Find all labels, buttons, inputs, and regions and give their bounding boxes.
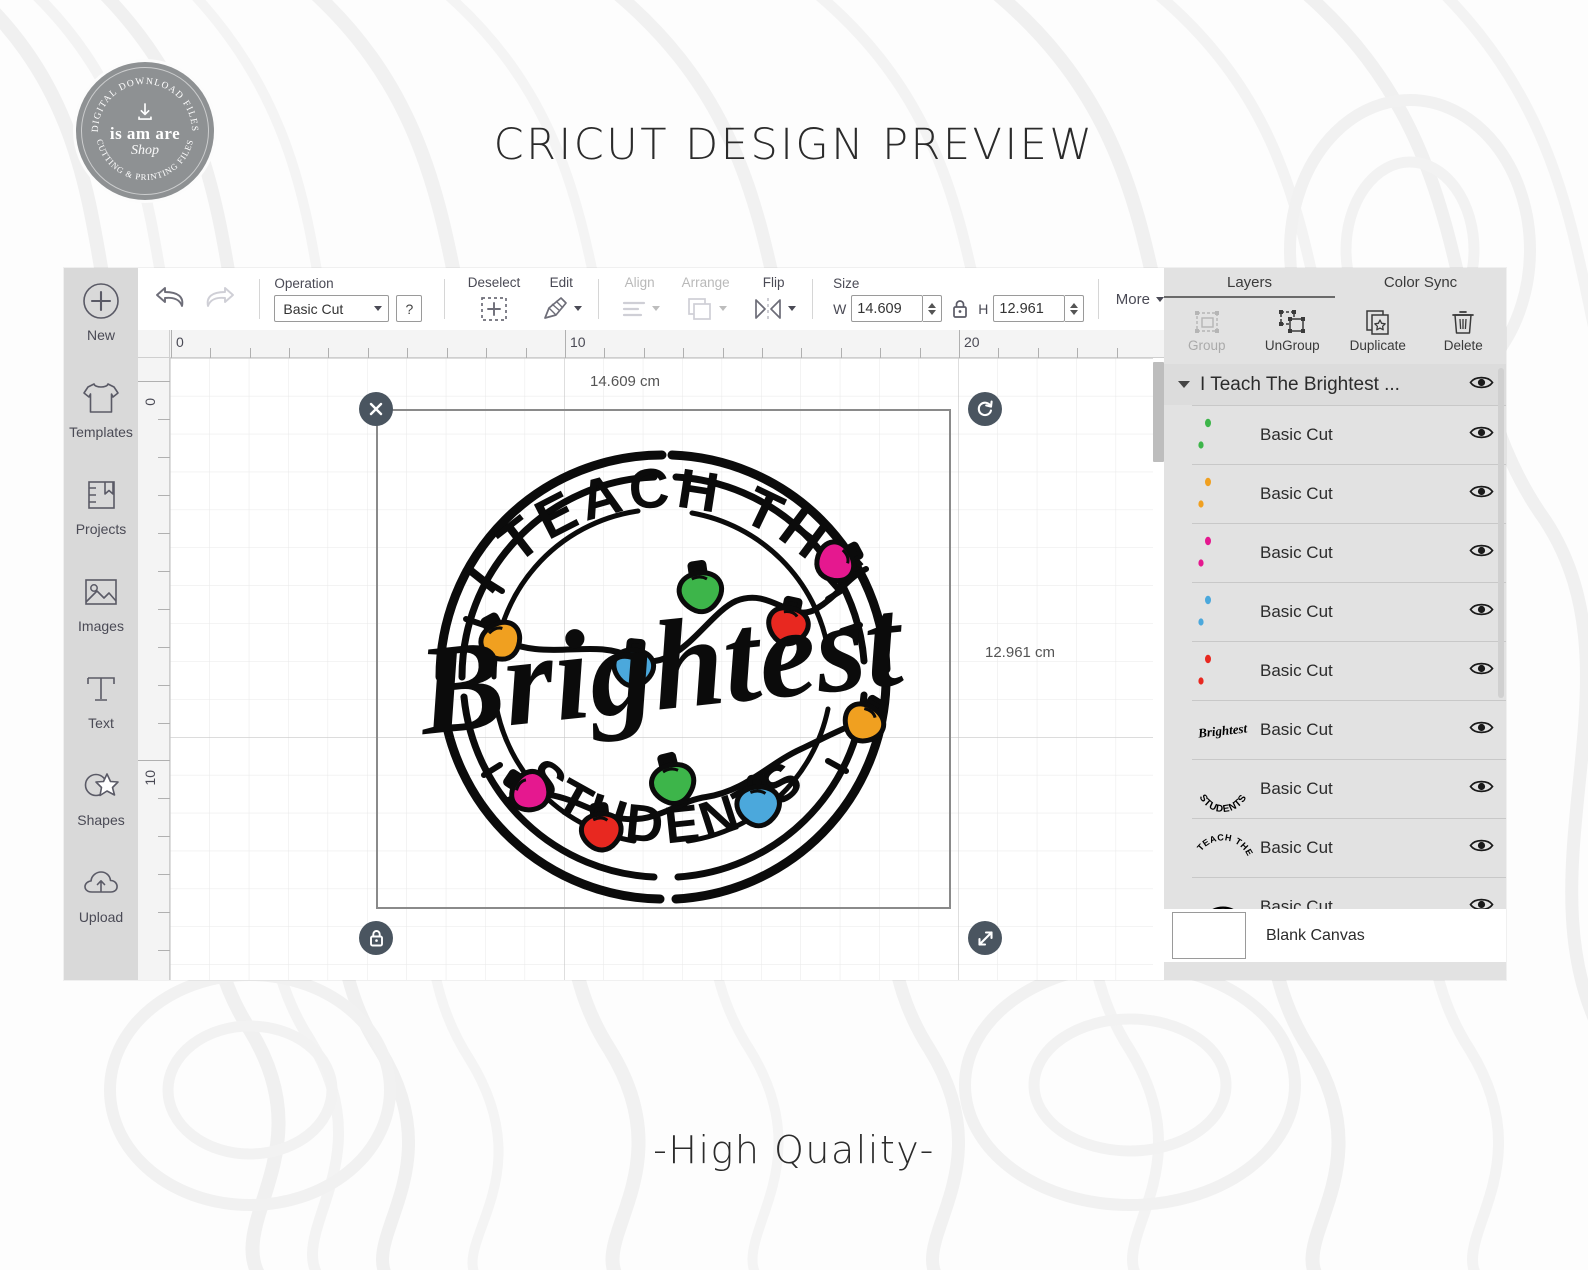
height-stepper[interactable] <box>1065 295 1084 322</box>
horizontal-ruler: 0 10 20 <box>138 330 1164 358</box>
layer-name: Basic Cut <box>1254 543 1469 563</box>
layer-thumbnail-arc-i-teach-the: I TEACH THE <box>1192 825 1254 871</box>
ruler-h-label-0: 0 <box>176 334 184 350</box>
layer-name: Basic Cut <box>1254 779 1469 799</box>
sidebar-item-new[interactable]: New <box>64 268 138 365</box>
close-x-icon <box>367 400 385 418</box>
layer-thumbnail-arc-students: STUDENTS <box>1192 766 1254 812</box>
layer-thumbnail-green-dots <box>1192 412 1254 458</box>
ruler-tick-minor <box>1117 348 1118 358</box>
ruler-tick-minor <box>158 723 170 724</box>
plus-circle-icon <box>81 278 121 324</box>
ruler-tick-major <box>959 330 960 358</box>
ruler-tick-minor <box>328 348 329 358</box>
chevron-down-icon[interactable] <box>574 306 582 311</box>
flip-label: Flip <box>763 275 785 290</box>
ruler-tick-minor <box>158 571 170 572</box>
redo-icon[interactable] <box>202 284 236 315</box>
ungroup-button[interactable]: UnGroup <box>1250 301 1336 360</box>
height-input[interactable] <box>993 295 1065 322</box>
cloud-upload-icon <box>81 860 121 906</box>
blank-canvas-row[interactable]: Blank Canvas <box>1164 909 1506 962</box>
left-sidebar: New Templates Projects <box>64 268 138 980</box>
sidebar-item-projects[interactable]: Projects <box>64 462 138 559</box>
top-toolbar: Operation Basic Cut ? Deselect Edit <box>138 268 1164 330</box>
eye-icon[interactable] <box>1469 424 1494 446</box>
layer-thumbnail-circle-frame <box>1192 884 1254 909</box>
more-button[interactable]: More <box>1116 291 1164 308</box>
design-grid[interactable]: 14.609 cm 12.961 cm <box>170 358 1164 980</box>
layers-list[interactable]: I Teach The Brightest ... Basic CutBasic… <box>1164 364 1506 909</box>
ruler-tick-minor <box>158 798 170 799</box>
layer-name: Basic Cut <box>1254 484 1469 504</box>
sidebar-label-images: Images <box>78 618 124 634</box>
chevron-down-icon[interactable] <box>1178 381 1190 388</box>
eye-icon[interactable] <box>1469 660 1494 682</box>
book-bookmark-icon <box>83 472 119 518</box>
group-button[interactable]: Group <box>1164 301 1250 360</box>
cricut-app-window: New Templates Projects <box>64 268 1506 980</box>
align-icon <box>620 294 648 324</box>
ruler-tick-minor <box>1077 348 1078 358</box>
operation-value: Basic Cut <box>283 301 343 317</box>
ruler-tick-major <box>171 330 172 358</box>
arrange-layers-icon <box>685 294 715 324</box>
align-label: Align <box>625 275 655 290</box>
chevron-down-icon <box>374 306 382 311</box>
trash-icon <box>1449 309 1477 335</box>
layer-row[interactable]: BrightestBasic Cut <box>1192 700 1506 759</box>
layer-name: Basic Cut <box>1254 661 1469 681</box>
stepper-down-icon <box>1070 310 1078 315</box>
ruler-tick-minor <box>158 912 170 913</box>
group-icon <box>1193 309 1221 335</box>
layer-group-name: I Teach The Brightest ... <box>1200 374 1469 396</box>
ruler-tick-major <box>565 330 566 358</box>
ruler-tick-minor <box>158 874 170 875</box>
rotate-handle[interactable] <box>968 392 1002 426</box>
align-group: Align <box>620 275 660 324</box>
eye-icon[interactable] <box>1469 896 1494 909</box>
sidebar-item-shapes[interactable]: Shapes <box>64 753 138 850</box>
stepper-down-icon <box>928 310 936 315</box>
layer-row[interactable]: Basic Cut <box>1192 877 1506 909</box>
scrollbar-thumb[interactable] <box>1153 362 1164 462</box>
layer-row[interactable]: Basic Cut <box>1192 405 1506 464</box>
svg-text:STUDENTS: STUDENTS <box>1197 793 1250 812</box>
ruler-tick-minor <box>210 348 211 358</box>
sidebar-label-new: New <box>87 327 115 343</box>
tab-layers[interactable]: Layers <box>1164 268 1335 298</box>
ruler-tick-minor <box>1038 348 1039 358</box>
eye-icon[interactable] <box>1469 719 1494 741</box>
eye-icon[interactable] <box>1469 837 1494 859</box>
text-t-icon <box>84 666 118 712</box>
ruler-tick-minor <box>683 348 684 358</box>
lock-closed-icon <box>949 297 971 321</box>
sidebar-item-upload[interactable]: Upload <box>64 850 138 947</box>
layers-panel: Layers Color Sync Group <box>1164 268 1506 980</box>
layer-name: Basic Cut <box>1254 720 1469 740</box>
duplicate-label: Duplicate <box>1350 338 1406 353</box>
sidebar-label-shapes: Shapes <box>77 812 124 828</box>
panel-tab-bar: Layers Color Sync <box>1164 268 1506 298</box>
ruler-h-label-10: 10 <box>570 334 586 350</box>
layer-row[interactable]: Basic Cut <box>1192 641 1506 700</box>
edit-label: Edit <box>550 275 573 290</box>
deselect-label: Deselect <box>468 275 521 290</box>
blank-canvas-label: Blank Canvas <box>1266 927 1365 945</box>
layer-rows-container: Basic CutBasic CutBasic CutBasic CutBasi… <box>1164 405 1506 909</box>
more-label: More <box>1116 291 1150 308</box>
ruler-corner <box>138 330 170 358</box>
flip-group: Flip <box>752 275 796 324</box>
sidebar-label-templates: Templates <box>69 424 133 440</box>
layer-group-row[interactable]: I Teach The Brightest ... <box>1164 364 1506 405</box>
tab-color-sync[interactable]: Color Sync <box>1335 268 1506 298</box>
layer-thumbnail-pink-dots <box>1192 530 1254 576</box>
ruler-tick-minor <box>841 348 842 358</box>
selection-bounding-box[interactable] <box>376 409 951 909</box>
dimension-width-label: 14.609 cm <box>590 373 660 390</box>
layer-name: Basic Cut <box>1254 838 1469 858</box>
ruler-tick-minor <box>158 457 170 458</box>
edit-group: Edit <box>540 275 582 324</box>
layer-thumbnail-orange-dots <box>1192 471 1254 517</box>
operation-select[interactable]: Basic Cut <box>274 295 389 322</box>
ruler-tick-minor <box>644 348 645 358</box>
ruler-tick-minor <box>289 348 290 358</box>
canvas-vertical-scrollbar[interactable] <box>1153 358 1164 980</box>
ungroup-label: UnGroup <box>1265 338 1320 353</box>
ruler-tick-minor <box>250 348 251 358</box>
ruler-h-label-20: 20 <box>964 334 980 350</box>
sidebar-label-text: Text <box>88 715 114 731</box>
delete-button[interactable]: Delete <box>1421 301 1507 360</box>
canvas-area: 0 10 20 <box>138 330 1164 980</box>
aspect-lock-button[interactable] <box>942 297 978 321</box>
chevron-down-icon <box>652 306 660 311</box>
layer-name: Basic Cut <box>1254 425 1469 445</box>
rotate-icon <box>975 399 995 419</box>
ruler-tick-minor <box>368 348 369 358</box>
chevron-down-icon <box>1156 297 1164 302</box>
layer-row[interactable]: STUDENTSBasic Cut <box>1192 759 1506 818</box>
lock-closed-icon <box>367 928 386 948</box>
width-input[interactable] <box>851 295 923 322</box>
ruler-tick-minor <box>998 348 999 358</box>
stepper-up-icon <box>928 303 936 308</box>
layer-row[interactable]: Basic Cut <box>1192 464 1506 523</box>
svg-text:I TEACH THE: I TEACH THE <box>1192 825 1254 858</box>
flip-icon[interactable] <box>752 294 784 324</box>
dimension-height-label: 12.961 cm <box>985 644 1055 661</box>
panel-action-bar: Group UnGroup <box>1164 298 1506 360</box>
sidebar-item-text[interactable]: Text <box>64 656 138 753</box>
ruler-tick-minor <box>723 348 724 358</box>
ruler-v-label-0: 0 <box>142 398 158 406</box>
sidebar-label-projects: Projects <box>76 521 127 537</box>
page-title: CRICUT DESIGN PREVIEW <box>0 120 1588 170</box>
eye-icon[interactable] <box>1469 778 1494 800</box>
layer-name: Basic Cut <box>1254 897 1469 909</box>
shapes-icon <box>82 763 120 809</box>
eye-icon[interactable] <box>1469 542 1494 564</box>
ruler-tick-minor <box>158 685 170 686</box>
ruler-tick-minor <box>762 348 763 358</box>
chevron-down-icon[interactable] <box>788 306 796 311</box>
operation-label: Operation <box>274 276 422 291</box>
size-label: Size <box>833 276 1084 291</box>
deselect-group: Deselect <box>468 275 521 324</box>
layer-thumbnail-script-brightest: Brightest <box>1192 707 1254 753</box>
eye-icon[interactable] <box>1469 601 1494 623</box>
sidebar-item-templates[interactable]: Templates <box>64 365 138 462</box>
svg-text:Brightest: Brightest <box>1196 720 1248 740</box>
ruler-tick-minor <box>880 348 881 358</box>
ruler-tick-minor <box>526 348 527 358</box>
size-group: Size W H <box>833 276 1084 322</box>
ruler-tick-minor <box>801 348 802 358</box>
ruler-tick-minor <box>158 533 170 534</box>
lock-aspect-handle[interactable] <box>359 921 393 955</box>
operation-help-button[interactable]: ? <box>396 295 422 322</box>
deselect-icon[interactable] <box>479 294 509 324</box>
delete-label: Delete <box>1444 338 1483 353</box>
layer-row[interactable]: Basic Cut <box>1192 523 1506 582</box>
layer-row[interactable]: Basic Cut <box>1192 582 1506 641</box>
resize-handle[interactable] <box>968 921 1002 955</box>
ruler-tick-minor <box>407 348 408 358</box>
edit-pencil-icon[interactable] <box>540 294 570 324</box>
layer-thumbnail-blue-dots <box>1192 589 1254 635</box>
ruler-tick-major <box>138 381 170 382</box>
eye-icon[interactable] <box>1469 483 1494 505</box>
eye-icon[interactable] <box>1469 374 1494 396</box>
sidebar-item-images[interactable]: Images <box>64 559 138 656</box>
width-stepper[interactable] <box>923 295 942 322</box>
panel-scrollbar-thumb[interactable] <box>1498 368 1504 698</box>
ruler-tick-minor <box>604 348 605 358</box>
ruler-tick-minor <box>486 348 487 358</box>
delete-handle[interactable] <box>359 392 393 426</box>
layer-name: Basic Cut <box>1254 602 1469 622</box>
operation-group: Operation Basic Cut ? <box>274 276 422 322</box>
width-letter: W <box>833 301 846 317</box>
layer-row[interactable]: I TEACH THEBasic Cut <box>1192 818 1506 877</box>
height-letter: H <box>978 301 988 317</box>
ruler-tick-minor <box>920 348 921 358</box>
picture-icon <box>82 569 120 615</box>
tshirt-icon <box>81 375 121 421</box>
ungroup-icon <box>1278 309 1306 335</box>
ruler-tick-minor <box>447 348 448 358</box>
duplicate-button[interactable]: Duplicate <box>1335 301 1421 360</box>
blank-canvas-swatch[interactable] <box>1172 912 1246 959</box>
ruler-tick-major <box>138 760 170 761</box>
duplicate-icon <box>1364 309 1392 335</box>
group-label: Group <box>1188 338 1226 353</box>
ruler-tick-minor <box>158 419 170 420</box>
arrange-group: Arrange <box>682 275 730 324</box>
ruler-tick-minor <box>158 609 170 610</box>
undo-redo-group <box>138 284 250 315</box>
chevron-down-icon <box>719 306 727 311</box>
vertical-ruler: 0 10 <box>138 358 170 980</box>
ruler-v-label-10: 10 <box>142 770 158 786</box>
sidebar-label-upload: Upload <box>79 909 123 925</box>
undo-icon[interactable] <box>154 284 188 315</box>
ruler-tick-minor <box>158 836 170 837</box>
ruler-tick-minor <box>158 950 170 951</box>
page-footer-caption: -High Quality- <box>0 1128 1588 1172</box>
resize-diagonal-icon <box>976 929 995 948</box>
arrange-label: Arrange <box>682 275 730 290</box>
stepper-up-icon <box>1070 303 1078 308</box>
ruler-tick-minor <box>158 647 170 648</box>
layer-thumbnail-red-dots <box>1192 648 1254 694</box>
ruler-tick-minor <box>158 495 170 496</box>
